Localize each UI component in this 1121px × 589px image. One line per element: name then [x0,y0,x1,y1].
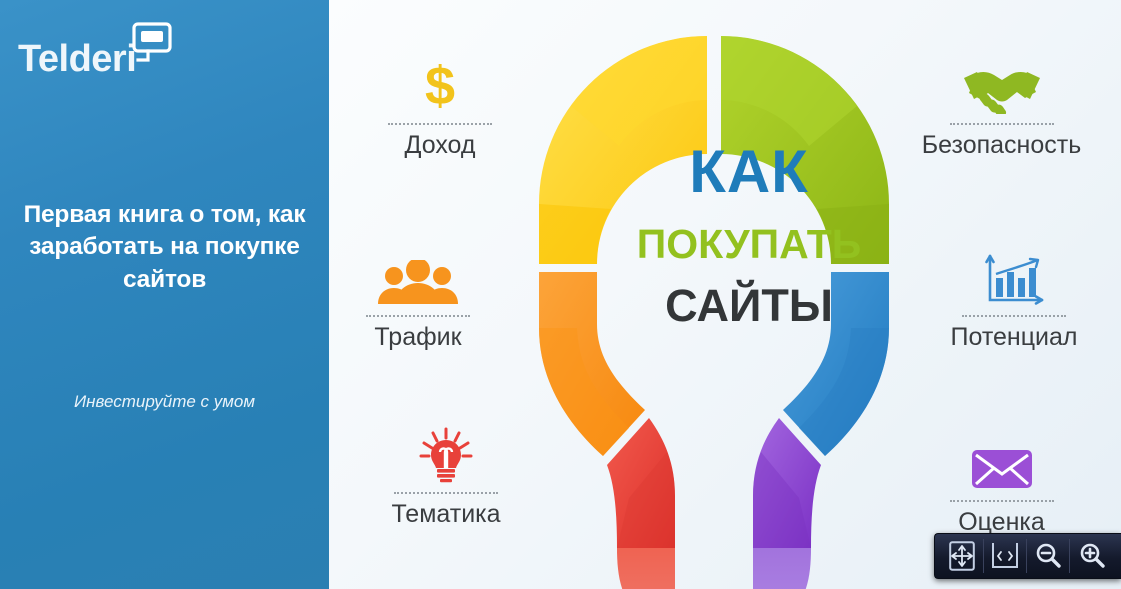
users-group-icon [329,250,513,306]
page-title: Первая книга о том, как заработать на по… [0,199,329,296]
feature-divider [950,123,1054,125]
dollar-sign-icon: $ [345,58,535,114]
zoom-out-button[interactable] [1027,539,1070,573]
envelope-icon [904,435,1099,491]
feature-dohod: $ Доход [345,58,535,159]
feature-divider [962,315,1066,317]
feature-bezopasnost: Безопасность [894,58,1109,159]
feature-tematika: Тематика [351,427,541,528]
feature-potencial: Потенциал [914,250,1114,351]
bulb-segment-top-right [721,36,889,264]
fit-width-icon [991,541,1019,571]
fit-page-button[interactable] [941,539,984,573]
lightbulb-icon [351,427,541,483]
zoom-out-icon [1034,542,1062,570]
svg-text:$: $ [425,60,455,114]
fit-width-button[interactable] [984,539,1027,573]
brand-logo-text: Telderi [18,40,136,78]
feature-trafik: Трафик [329,250,513,351]
bulb-segment-middle-right [783,272,889,456]
book-cover-viewer: Telderi Первая книга о том, как заработа… [0,0,1121,589]
zoom-in-button[interactable] [1070,539,1113,573]
feature-label: Безопасность [894,131,1109,159]
brand-logo[interactable]: Telderi [18,22,198,92]
feature-divider [388,123,492,125]
lightbulb-graphic [479,28,949,589]
cover-artwork-panel: КАК ПОКУПАТЬ САЙТЫ $ Доход [329,0,1121,589]
feature-label: Трафик [329,323,513,351]
fit-page-icon [949,541,975,571]
bulb-segment-top-left [539,36,707,264]
tagline: Инвестируйте с умом [0,392,329,412]
bulb-segment-bottom-left [607,418,675,589]
bulb-segment-bottom-right [753,418,821,589]
feature-divider [950,500,1054,502]
feature-label-line-1: Оценка [958,508,1045,536]
monitor-screen-icon [128,22,174,68]
sidebar-panel: Telderi Первая книга о том, как заработа… [0,0,329,589]
bulb-segment-middle-left [539,272,645,456]
feature-label: Тематика [351,500,541,528]
feature-label: Доход [345,131,535,159]
feature-divider [366,315,470,317]
handshake-icon [894,58,1109,114]
feature-divider [394,492,498,494]
zoom-in-icon [1078,542,1106,570]
feature-label: Потенциал [914,323,1114,351]
bar-chart-up-icon [914,250,1114,306]
viewer-toolbar[interactable] [934,533,1121,579]
